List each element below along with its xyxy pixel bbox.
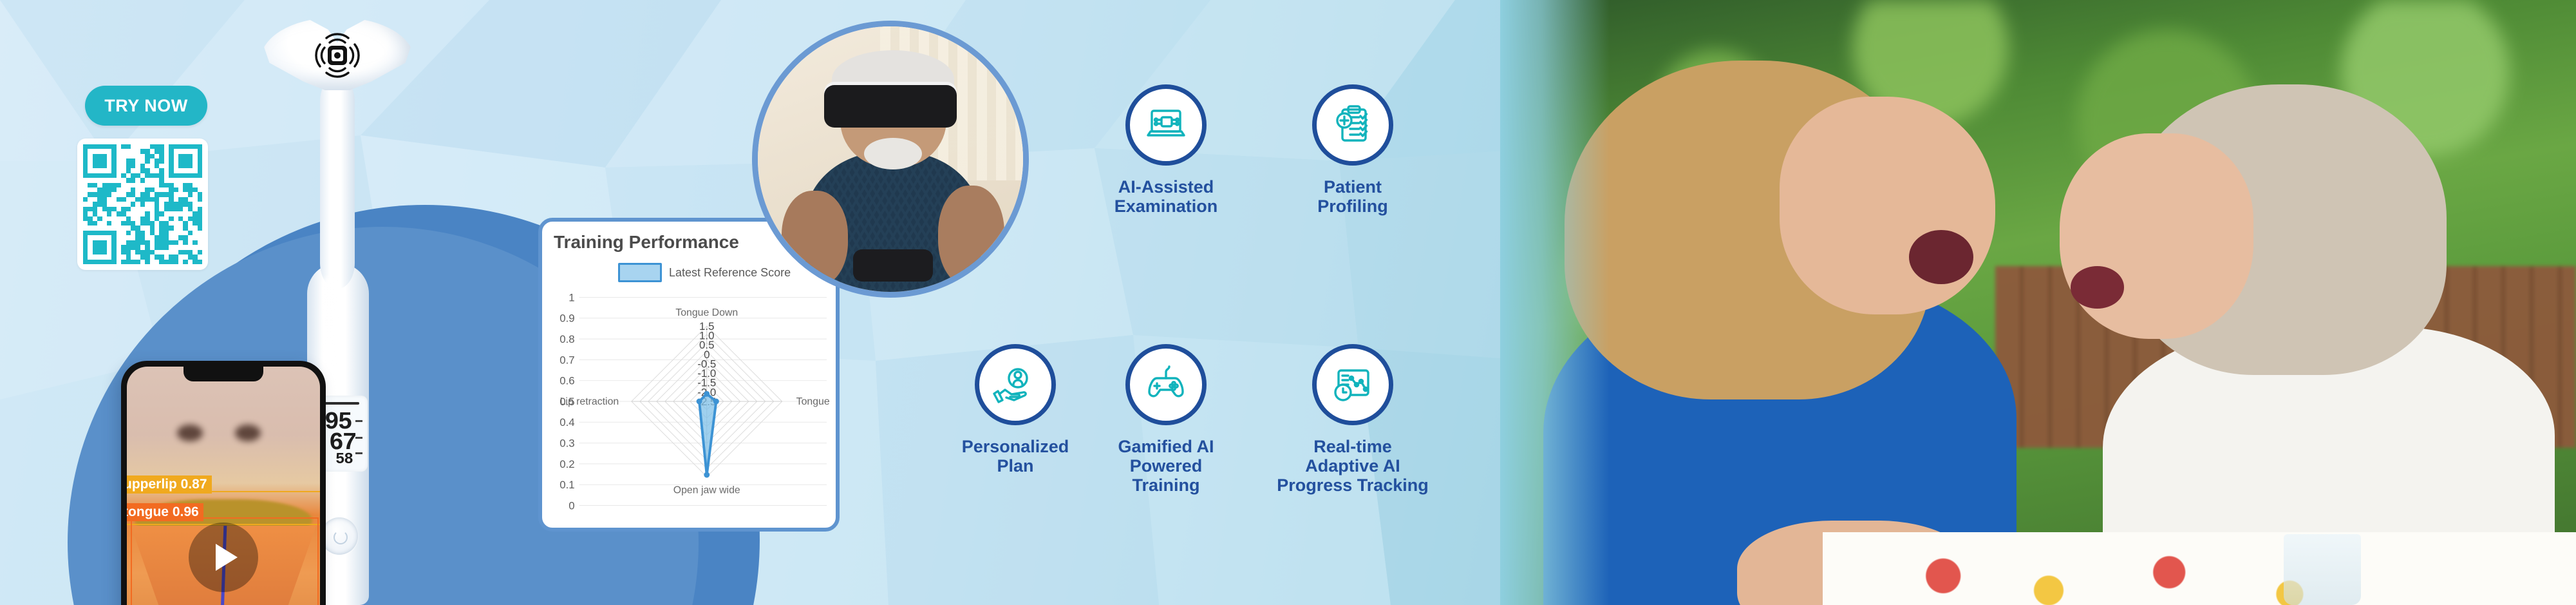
photo-arm-right <box>938 186 1004 287</box>
hand-person-care-icon <box>975 344 1056 425</box>
qr-code[interactable] <box>77 139 208 270</box>
promo-banner: TRY NOW 95 67 58 <box>0 0 2576 605</box>
chart-clock-icon <box>1312 344 1393 425</box>
signal-sensor-icon <box>308 26 367 85</box>
photo-arm-left <box>782 191 848 286</box>
svg-text:0.6: 0.6 <box>559 375 574 387</box>
svg-text:0.1: 0.1 <box>559 479 574 491</box>
try-now-button[interactable]: TRY NOW <box>85 86 207 126</box>
svg-text:0.9: 0.9 <box>559 312 574 325</box>
phone-notch <box>183 367 263 381</box>
photo-left-fade <box>1500 0 1610 605</box>
clipboard-checklist-medical-icon <box>1312 84 1393 166</box>
device-neck <box>320 76 355 289</box>
feature-label: Gamified AIPoweredTraining <box>1086 437 1246 495</box>
patio-table <box>1823 532 2576 605</box>
game-controller-icon <box>1125 344 1207 425</box>
lcd-tick-2 <box>355 437 362 439</box>
feature-label: Real-timeAdaptive AIProgress Tracking <box>1272 437 1433 495</box>
qr-code-matrix <box>83 144 202 264</box>
feature-gamified-ai-training[interactable]: Gamified AIPoweredTraining <box>1086 344 1246 495</box>
svg-text:0: 0 <box>569 499 574 512</box>
lcd-top-bar <box>323 402 359 405</box>
nostril-right <box>235 425 261 441</box>
legend-swatch <box>618 263 662 282</box>
game-controller <box>853 249 933 281</box>
feature-label: AI-AssistedExamination <box>1086 177 1246 216</box>
svg-text:Tongue Down: Tongue Down <box>675 307 738 318</box>
svg-text:0.2: 0.2 <box>559 458 574 470</box>
feature-label: PersonalizedPlan <box>935 437 1096 475</box>
laptop-ai-icon <box>1125 84 1207 166</box>
power-button-icon[interactable] <box>321 517 358 555</box>
lcd-value-3: 58 <box>335 451 353 468</box>
svg-text:1: 1 <box>569 291 574 303</box>
phone-mockup: upperlip 0.87 tongue 0.96 <box>121 361 326 605</box>
therapist-face <box>1780 97 1995 314</box>
water-glass <box>2284 534 2361 605</box>
svg-text:Tongue Left: Tongue Left <box>796 396 829 407</box>
radar-svg: 10.90.80.70.60.50.40.30.20.101.51.00.50-… <box>549 287 829 514</box>
vr-user-photo <box>752 21 1029 298</box>
svg-text:0.8: 0.8 <box>559 333 574 345</box>
feature-ai-assisted-examination[interactable]: AI-AssistedExamination <box>1086 84 1246 216</box>
radar-plot: 10.90.80.70.60.50.40.30.20.101.51.00.50-… <box>549 287 829 514</box>
feature-label: PatientProfiling <box>1272 177 1433 216</box>
nostril-left <box>177 425 203 441</box>
play-button-icon[interactable] <box>189 523 258 592</box>
therapist-open-mouth <box>1909 230 1973 285</box>
feature-personalized-plan[interactable]: PersonalizedPlan <box>935 344 1096 475</box>
vr-headset <box>824 85 957 128</box>
patient-face <box>2060 133 2253 339</box>
lcd-tick-3 <box>355 452 362 454</box>
svg-text:Lip retraction: Lip retraction <box>560 396 619 407</box>
patient-open-mouth <box>2071 266 2125 309</box>
svg-text:0.4: 0.4 <box>559 416 574 428</box>
svg-text:0.3: 0.3 <box>559 437 574 450</box>
therapy-session-photo <box>1500 0 2576 605</box>
lcd-tick-1 <box>355 420 362 422</box>
feature-patient-profiling[interactable]: PatientProfiling <box>1272 84 1433 216</box>
phone-screen: upperlip 0.87 tongue 0.96 <box>127 367 320 605</box>
svg-text:Open jaw wide: Open jaw wide <box>673 485 740 496</box>
detection-label-tongue: tongue 0.96 <box>127 503 203 521</box>
feature-realtime-progress-tracking[interactable]: Real-timeAdaptive AIProgress Tracking <box>1272 344 1433 495</box>
svg-text:0.7: 0.7 <box>559 354 574 366</box>
detection-label-upperlip: upperlip 0.87 <box>127 475 212 494</box>
